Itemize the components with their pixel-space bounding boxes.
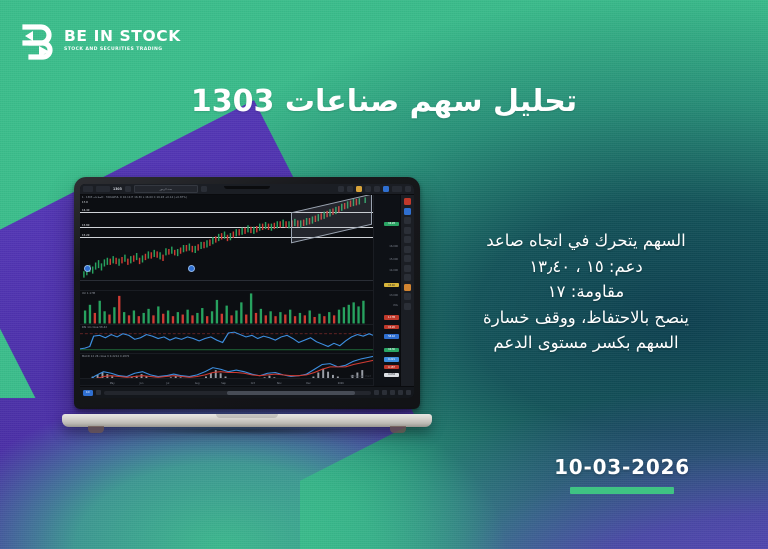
settings-icon[interactable]	[374, 186, 380, 192]
drawing-toolbar[interactable]	[400, 195, 414, 386]
replay-icon[interactable]	[374, 390, 379, 395]
axis-label-support: 15.20	[384, 325, 399, 329]
laptop-screen: 1303 بحث الرموز	[80, 184, 414, 398]
x-tick-jun: Jun	[140, 382, 144, 385]
analysis-line-resistance: مقاومة: ١٧	[426, 279, 746, 305]
indicators-icon[interactable]	[338, 186, 344, 192]
axis-tick-0: 16.000	[389, 245, 398, 248]
interval-button[interactable]	[392, 186, 402, 192]
price-legend: صناعات 1303 · 1D · TADAWUL O 16.14 H 16.…	[82, 196, 187, 199]
search-icon[interactable]	[201, 186, 207, 192]
x-tick-dec: Dec	[306, 382, 311, 385]
x-tick-sep: Sep	[221, 382, 226, 385]
axis-label-hist: 0.034	[384, 373, 399, 377]
price-pane[interactable]: صناعات 1303 · 1D · TADAWUL O 16.14 H 16.…	[80, 195, 373, 291]
x-tick-2026: 2026	[338, 382, 344, 385]
laptop-lid: 1303 بحث الرموز	[74, 177, 420, 409]
webcam-notch	[224, 186, 270, 189]
x-axis[interactable]: May Jun Jul Aug Sep Oct Nov Dec 2026	[80, 378, 373, 385]
alerts-icon[interactable]	[382, 390, 387, 395]
search-input[interactable]: بحث الرموز	[134, 185, 198, 194]
volume-series	[80, 291, 373, 323]
x-tick-oct: Oct	[251, 382, 255, 385]
horizontal-scrollbar[interactable]	[104, 391, 371, 395]
axis-tick-1: 15.000	[389, 258, 398, 261]
cursor-icon[interactable]	[404, 198, 411, 205]
settings-icon[interactable]	[398, 390, 403, 395]
laptop-base	[62, 414, 432, 427]
brand-logo: BE IN STOCK STOCK AND SECURITIES TRADING	[19, 22, 181, 60]
macd-pane[interactable]: MACD 12 26 close 9 0.2214 0.1870	[80, 354, 373, 386]
crosshair-icon[interactable]	[404, 208, 411, 215]
axis-label-high: 16.30	[384, 348, 399, 352]
volume-legend: Vol 1.17M	[82, 292, 95, 295]
rsi-pane[interactable]: RSI 14 close 58.42	[80, 325, 373, 355]
laptop-base-notch	[216, 414, 278, 418]
date-underline	[570, 487, 674, 494]
x-tick-jul: Jul	[166, 382, 169, 385]
date-block: 10-03-2026	[554, 455, 690, 494]
analysis-text-block: السهم يتحرك في اتجاه صاعد دعم: ١٥ ، ١٣٫٤…	[426, 228, 746, 356]
compare-icon[interactable]	[125, 186, 131, 192]
axis-label-signal: 0.187	[384, 365, 399, 369]
brand-name: BE IN STOCK	[64, 29, 181, 45]
axis-label-last-price: 16.28	[384, 222, 399, 226]
analysis-line-support: دعم: ١٥ ، ١٣٫٤٠	[426, 254, 746, 280]
brand-logo-text: BE IN STOCK STOCK AND SECURITIES TRADING	[64, 29, 181, 53]
b-arrows-logo-icon	[19, 22, 55, 60]
axis-tick-3: 13.000	[389, 294, 398, 297]
rsi-legend: RSI 14 close 58.42	[82, 326, 107, 329]
page-title: تحليل سهم صناعات 1303	[0, 84, 768, 119]
symbol-button[interactable]	[96, 186, 110, 192]
axis-tick-2: 14.000	[389, 269, 398, 272]
text-icon[interactable]	[404, 255, 411, 262]
axis-label-macd: 0.221	[384, 357, 399, 361]
interval-1d-button[interactable]: 1D	[83, 390, 93, 396]
eye-icon[interactable]	[404, 293, 411, 300]
brand-tagline: STOCK AND SECURITIES TRADING	[64, 48, 181, 53]
volume-pane[interactable]: Vol 1.17M	[80, 291, 373, 324]
undo-icon[interactable]	[356, 186, 362, 192]
macd-legend: MACD 12 26 close 9 0.2214 0.1870	[82, 355, 129, 358]
magnet-icon[interactable]	[404, 274, 411, 281]
rsi-series	[80, 325, 373, 354]
laptop-foot-right	[390, 426, 406, 433]
list-icon[interactable]	[390, 390, 395, 395]
menu-icon[interactable]	[83, 186, 93, 192]
analysis-line-advice-1: ينصح بالاحتفاظ، ووقف خسارة	[426, 305, 746, 331]
axis-label-rsi: 58.42	[384, 334, 399, 338]
laptop-mockup: 1303 بحث الرموز	[62, 177, 432, 439]
alert-icon[interactable]	[347, 186, 353, 192]
shapes-icon[interactable]	[404, 236, 411, 243]
trading-app: 1303 بحث الرموز	[80, 184, 414, 398]
poster-canvas: BE IN STOCK STOCK AND SECURITIES TRADING…	[0, 0, 768, 549]
lock-icon[interactable]	[404, 284, 411, 291]
app-bottom-bar: 1D	[80, 386, 414, 398]
x-tick-may: May	[110, 382, 115, 385]
trash-icon[interactable]	[404, 303, 411, 310]
axis-label-alert: 15.40	[384, 283, 399, 287]
symbol-label: 1303	[113, 187, 122, 191]
trendline-icon[interactable]	[404, 217, 411, 224]
chart-marker-2[interactable]	[188, 265, 195, 272]
fib-icon[interactable]	[404, 227, 411, 234]
fullscreen-icon[interactable]	[383, 186, 389, 192]
price-axis[interactable]: 16.28 16.000 15.000 14.000 15.40 13.000 …	[373, 195, 400, 386]
chart-marker-1[interactable]	[84, 265, 91, 272]
date-value: 10-03-2026	[554, 455, 690, 479]
camera-icon[interactable]	[405, 186, 411, 192]
x-tick-nov: Nov	[277, 382, 282, 385]
axis-label-volume: VOL	[393, 304, 398, 307]
brush-icon[interactable]	[404, 246, 411, 253]
analysis-line-advice-2: السهم بكسر مستوى الدعم	[426, 330, 746, 356]
x-tick-aug: Aug	[195, 382, 200, 385]
layout-icon[interactable]	[96, 390, 101, 395]
redo-icon[interactable]	[365, 186, 371, 192]
axis-label-volume-value: 1.17M	[384, 315, 399, 319]
chart-panes: صناعات 1303 · 1D · TADAWUL O 16.14 H 16.…	[80, 195, 373, 386]
measure-icon[interactable]	[404, 265, 411, 272]
laptop-foot-left	[88, 426, 104, 433]
search-icon-bottom[interactable]	[406, 390, 411, 395]
chart-area: صناعات 1303 · 1D · TADAWUL O 16.14 H 16.…	[80, 195, 414, 386]
analysis-line-trend: السهم يتحرك في اتجاه صاعد	[426, 228, 746, 254]
